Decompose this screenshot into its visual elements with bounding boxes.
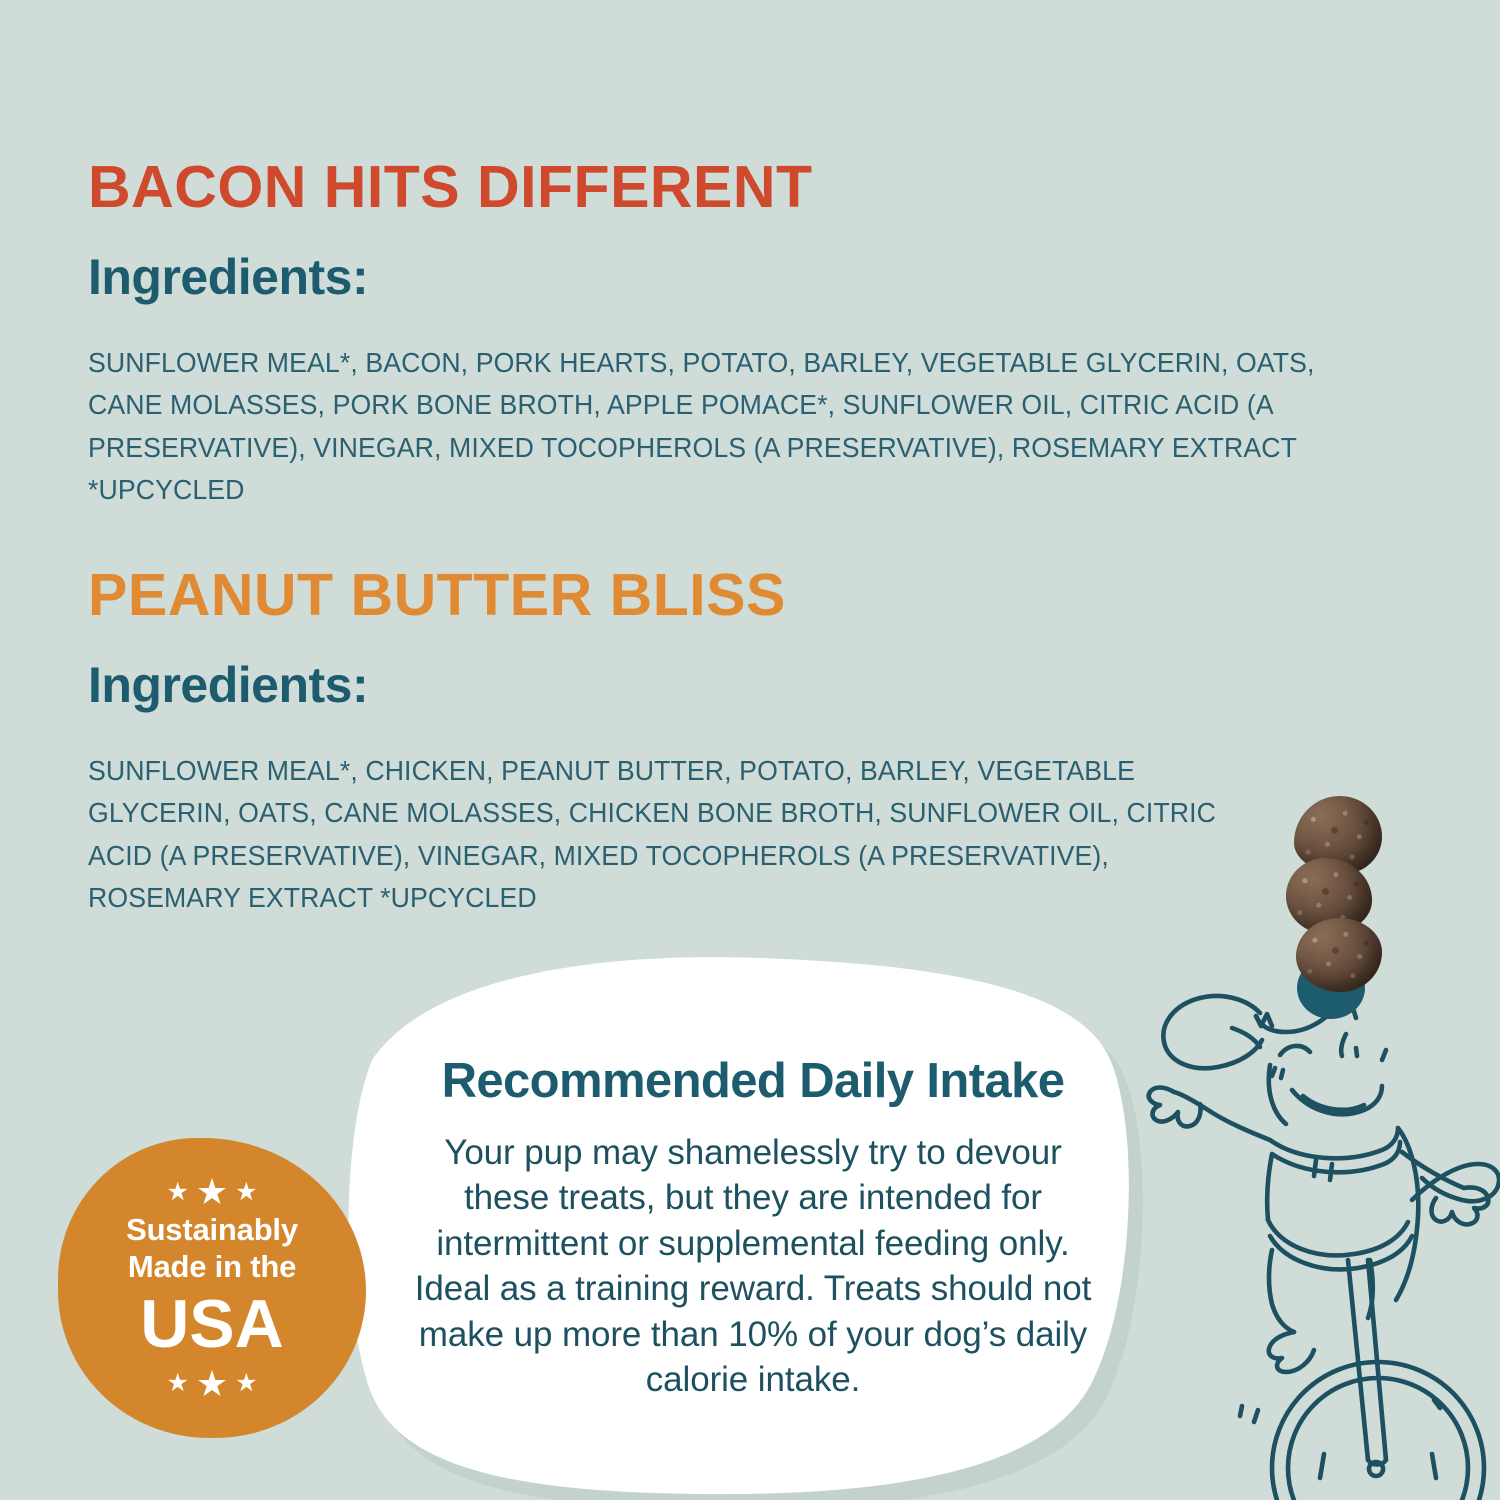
dog-foot-left: [1269, 1332, 1314, 1372]
dog-collar: [1270, 1128, 1398, 1158]
badge-line-2: Made in the: [128, 1251, 296, 1284]
recommended-daily-intake-card: Recommended Daily Intake Your pup may sh…: [398, 1055, 1108, 1403]
peanut-butter-ingredients-text: SUNFLOWER MEAL*, CHICKEN, PEANUT BUTTER,…: [88, 750, 1262, 919]
dog-ear-notch: [1256, 1014, 1272, 1026]
dog-collar-buckle2: [1330, 1164, 1332, 1180]
dog-paw-left: [1149, 1088, 1201, 1127]
star-small-icon: ★: [166, 1371, 188, 1396]
unicycle-spoke2: [1432, 1454, 1436, 1478]
product-info-panel: BACON HITS DIFFERENT Ingredients: SUNFLO…: [0, 0, 1500, 1500]
dog-treat: [1296, 918, 1382, 992]
bacon-heading: BACON HITS DIFFERENT: [88, 158, 813, 217]
dog-body-left: [1267, 1154, 1272, 1220]
star-small-icon: ★: [166, 1180, 188, 1205]
bacon-ingredients-text: SUNFLOWER MEAL*, BACON, PORK HEARTS, POT…: [88, 342, 1318, 511]
peanut-butter-ingredients-wrap: SUNFLOWER MEAL*, CHICKEN, PEANUT BUTTER,…: [88, 750, 1298, 919]
section-peanut-butter: PEANUT BUTTER BLISS: [88, 566, 786, 625]
section-bacon: BACON HITS DIFFERENT: [88, 158, 813, 217]
intake-card-title: Recommended Daily Intake: [398, 1055, 1108, 1108]
star-small-icon: ★: [235, 1371, 257, 1396]
motion-mark4: [1382, 1050, 1386, 1060]
dog-belly: [1268, 1220, 1408, 1255]
motion-mark2: [1254, 1410, 1258, 1422]
dog-arm-left: [1174, 1092, 1270, 1140]
dog-eye-lash: [1272, 1068, 1275, 1076]
bacon-ingredients-label-wrap: Ingredients:: [88, 252, 368, 302]
bacon-ingredients-label: Ingredients:: [88, 252, 368, 302]
peanut-butter-ingredients-label: Ingredients:: [88, 660, 368, 710]
star-large-icon: ★: [196, 1366, 228, 1402]
dog-eye-lash2: [1281, 1070, 1283, 1078]
dog-collar-buckle: [1314, 1160, 1316, 1176]
unicycle-spoke1: [1320, 1454, 1324, 1478]
bacon-ingredients-wrap: SUNFLOWER MEAL*, BACON, PORK HEARTS, POT…: [88, 342, 1356, 511]
dog-ear: [1163, 996, 1262, 1068]
dog-ear-fold: [1232, 1028, 1260, 1047]
made-in-usa-badge: ★ ★ ★ Sustainably Made in the USA ★ ★ ★: [58, 1138, 366, 1438]
dog-leg-left: [1269, 1250, 1294, 1332]
treat-stack: [1286, 796, 1386, 976]
unicycle-hub: [1369, 1462, 1383, 1476]
motion-mark1: [1240, 1406, 1242, 1416]
badge-stars-bottom: ★ ★ ★: [166, 1366, 257, 1402]
star-small-icon: ★: [235, 1180, 257, 1205]
peanut-butter-ingredients-label-wrap: Ingredients:: [88, 660, 368, 710]
dog-nostril: [1341, 1034, 1346, 1056]
star-large-icon: ★: [196, 1174, 228, 1210]
intake-card-body: Your pup may shamelessly try to devour t…: [398, 1130, 1108, 1403]
badge-stars-top: ★ ★ ★: [166, 1174, 257, 1210]
badge-line-1: Sustainably: [126, 1214, 298, 1247]
peanut-butter-heading: PEANUT BUTTER BLISS: [88, 566, 786, 625]
unicycle-post: [1348, 1260, 1368, 1460]
badge-usa-text: USA: [140, 1290, 284, 1358]
dog-eye: [1280, 1046, 1310, 1055]
dog-nostril2: [1356, 1048, 1357, 1056]
